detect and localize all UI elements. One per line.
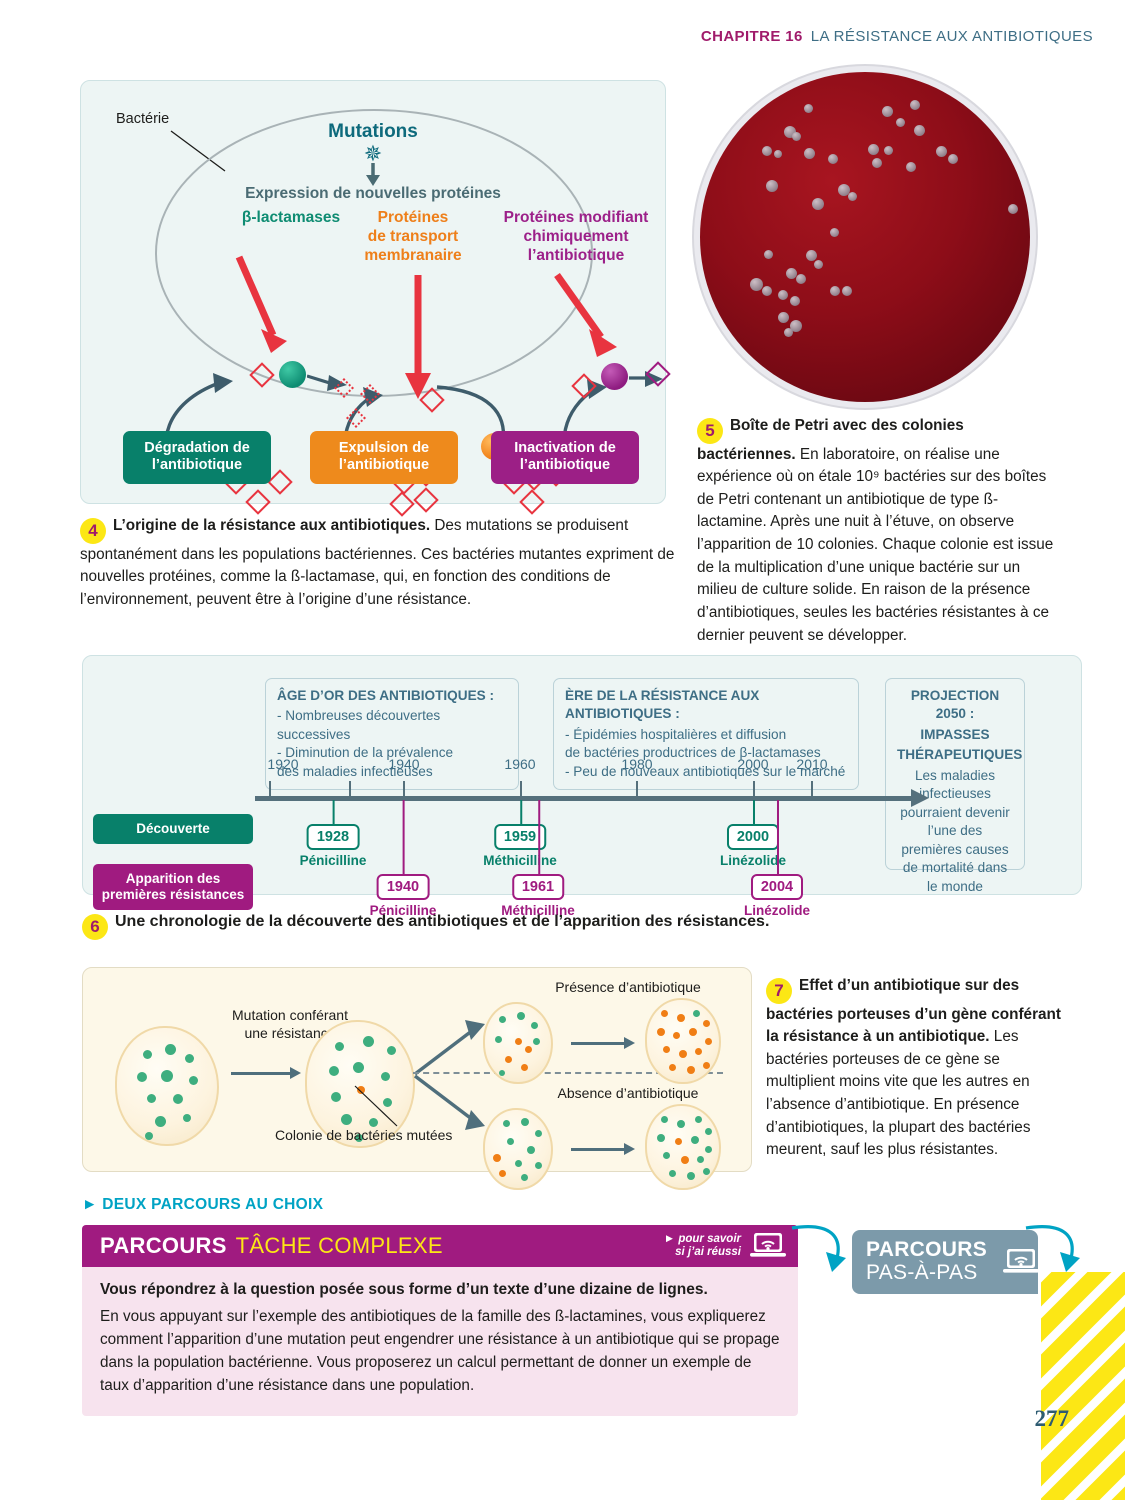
bacterial-colony [804,104,813,113]
laptop-wifi-icon[interactable] [748,1231,788,1261]
antibiotic-molecule-icon [245,489,270,514]
bacterial-colony [936,146,947,157]
antibiotic-molecule-icon [389,491,414,516]
laptop-wifi-icon[interactable] [1001,1247,1041,1277]
mutation-star-icon: ✵ [81,143,665,165]
bacterial-colony [804,148,815,159]
bacterial-colony [914,125,925,136]
red-arrow-icon-right [553,271,633,371]
bacterial-colony [764,250,773,259]
timeline-box-resistance-era: ÈRE DE LA RÉSISTANCE AUX ANTIBIOTIQUES :… [553,678,859,790]
timeline-year-label: 1920 [267,756,298,772]
bacterial-colony [830,228,839,237]
timeline-box-golden-age: ÂGE D’OR DES ANTIBIOTIQUES : - Nombreuse… [265,678,519,790]
pour-savoir-si-jai-reussi[interactable]: ► pour savoir si j’ai réussi [664,1231,788,1261]
parcours-tache-complexe[interactable]: PARCOURS TÂCHE COMPLEXE ► pour savoir si… [82,1225,798,1416]
figure-6-caption: 6Une chronologie de la découverte des an… [82,910,1022,940]
pour-savoir-line2: si j’ai réussi [675,1246,741,1258]
parcours-tache-complexe-body: Vous répondrez à la question posée sous … [82,1267,798,1416]
bacterial-colony [872,158,882,168]
presence-antibiotic-label: Présence d’antibiotique [513,978,743,996]
pap-line1: PARCOURS [866,1239,987,1261]
figure-7-panel: Mutation conférant une résistance Coloni… [82,967,752,1172]
parcours-tache-complexe-header: PARCOURS TÂCHE COMPLEXE ► pour savoir si… [82,1225,798,1267]
outcome-inactivation-label: Inactivation de l’antibiotique [491,431,639,484]
bacterial-colony [814,260,823,269]
bacterial-colony [896,118,905,127]
bacterial-colony [828,154,838,164]
figure-7-caption: 7Effet d’un antibiotique sur des bactéri… [766,975,1066,1162]
bacterial-colony [910,100,920,110]
timeline-axis [255,796,915,801]
legend-first-resistances: Apparition des premières résistances [93,864,253,910]
bacterial-colony [778,290,788,300]
parcours-pas-a-pas-text: PARCOURS PAS-À-PAS [866,1239,987,1284]
bacterial-colony [750,278,763,291]
timeline-year-label: 1940 [388,756,419,772]
bacterial-colony [806,250,817,261]
protein-label-membrane-transport: Protéines de transport membranaire [343,209,483,266]
timeline-year-label: 1980 [621,756,652,772]
bacterial-colony [1008,204,1018,214]
pour-savoir-line1: ► pour savoir [664,1233,741,1245]
bacteria-dish-absence-before [483,1108,553,1190]
figure-5-caption-body: En laboratoire, on réalise une expérienc… [697,446,1053,644]
bacterial-colony [812,198,824,210]
branch-arrow-up [413,1018,493,1078]
bacteria-dish-initial [115,1026,219,1146]
bacterial-colony [792,132,801,141]
antibiotic-molecule-icon [267,469,292,494]
timeline-event-discovery-penicilline: 1928 Pénicilline [300,824,367,868]
bacterial-colony [842,286,852,296]
bacterial-colony [830,286,840,296]
figure-number-badge-5: 5 [697,418,723,444]
arrow-presence-growth [571,1042,625,1045]
figure-number-badge-7: 7 [766,978,792,1004]
figure-7-caption-body: Les bactéries porteuses de ce gène se mu… [766,1028,1030,1158]
figure-number-badge-4: 4 [80,518,106,544]
chapter-title: LA RÉSISTANCE AUX ANTIBIOTIQUES [811,28,1093,45]
bacterial-colony [848,192,857,201]
figure-6-caption-text: Une chronologie de la découverte des ant… [115,913,769,930]
tache-complexe-word: TÂCHE COMPLEXE [236,1233,443,1259]
down-arrow-icon [362,163,384,187]
petri-dish-photo [700,72,1030,402]
curved-arrow-icon-left [790,1222,854,1278]
bacterial-colony [766,180,778,192]
antibiotic-molecule-icon [413,487,438,512]
page-number: 277 [1035,1406,1070,1432]
legend-discovery: Découverte [93,814,253,844]
timeline-tick [269,781,271,796]
timeline-tick [520,781,522,796]
deux-parcours-heading: ► DEUX PARCOURS AU CHOIX [82,1196,323,1214]
figure-number-badge-6: 6 [82,914,108,940]
bacterial-colony [762,146,772,156]
page-header: CHAPITRE 16 LA RÉSISTANCE AUX ANTIBIOTIQ… [701,28,1093,45]
figure-6-timeline-panel: ÂGE D’OR DES ANTIBIOTIQUES : - Nombreuse… [82,655,1082,895]
bacterial-colony [882,106,893,117]
chapter-label: CHAPITRE 16 [701,28,803,45]
antibiotic-molecule-icon [519,489,544,514]
bacterial-colony [784,328,793,337]
protein-label-chemical-modification: Protéines modifiant chimiquement l’antib… [481,209,671,266]
bacterial-colony [762,286,772,296]
mutations-title: Mutations [81,121,665,143]
bacterial-colony [948,154,958,164]
bacterial-colony [868,144,879,155]
timeline-event-discovery-methicilline: 1959 Méthicilline [483,824,557,868]
parcours-pas-a-pas[interactable]: PARCOURS PAS-À-PAS [852,1230,1038,1294]
timeline-year-label: 2000 [737,756,768,772]
bacterial-colony [778,312,789,323]
figure-5-caption: 5Boîte de Petri avec des colonies bactér… [697,415,1057,647]
petri-dish-agar [700,72,1030,402]
figure-4-panel: Bactérie Mutations ✵ Expression de nouve… [80,80,666,504]
timeline-tick [403,781,405,796]
bacteria-dish-presence-before [483,1002,553,1084]
timeline-year-label: 2010 [796,756,827,772]
timeline-box-projection-2050: PROJECTION 2050 : IMPASSES THÉRAPEUTIQUE… [885,678,1025,870]
parcours-lead-text: Vous répondrez à la question posée sous … [100,1281,780,1299]
outcome-degradation-label: Dégradation de l’antibiotique [123,431,271,484]
outcome-expulsion-label: Expulsion de l’antibiotique [310,431,458,484]
modifying-enzyme-icon [601,363,628,390]
figure-4-caption: 4L’origine de la résistance aux antibiot… [80,515,676,611]
timeline-tick [349,781,351,796]
timeline-tick [636,781,638,796]
red-arrow-icon-left [231,253,301,363]
pap-line2: PAS-À-PAS [866,1261,987,1284]
expression-label: Expression de nouvelles protéines [81,185,665,203]
bacterial-colony [906,162,916,172]
corner-stripes-decoration [1041,1272,1125,1500]
bacterial-colony [774,150,782,158]
arrow-mutation [231,1072,291,1075]
bacterial-colony [790,296,800,306]
timeline-tick [753,781,755,796]
timeline-axis-arrow-icon [911,789,929,807]
bacteria-dish-absence-after [645,1104,721,1190]
figure-4-caption-title: L’origine de la résistance aux antibioti… [113,517,430,534]
arrow-absence-growth [571,1148,625,1151]
bacteria-dish-presence-after [645,998,721,1084]
timeline-tick [811,781,813,796]
parcours-word: PARCOURS [100,1233,227,1259]
absence-antibiotic-label: Absence d’antibiotique [513,1084,743,1102]
bacterial-colony [884,146,893,155]
beta-lactamase-enzyme-icon [279,361,306,388]
parcours-body-text: En vous appuyant sur l’exemple des antib… [100,1306,780,1398]
branch-arrow-down [413,1074,493,1136]
timeline-year-label: 1960 [504,756,535,772]
bacterial-colony [796,274,806,284]
red-arrow-icon-middle [401,275,435,401]
